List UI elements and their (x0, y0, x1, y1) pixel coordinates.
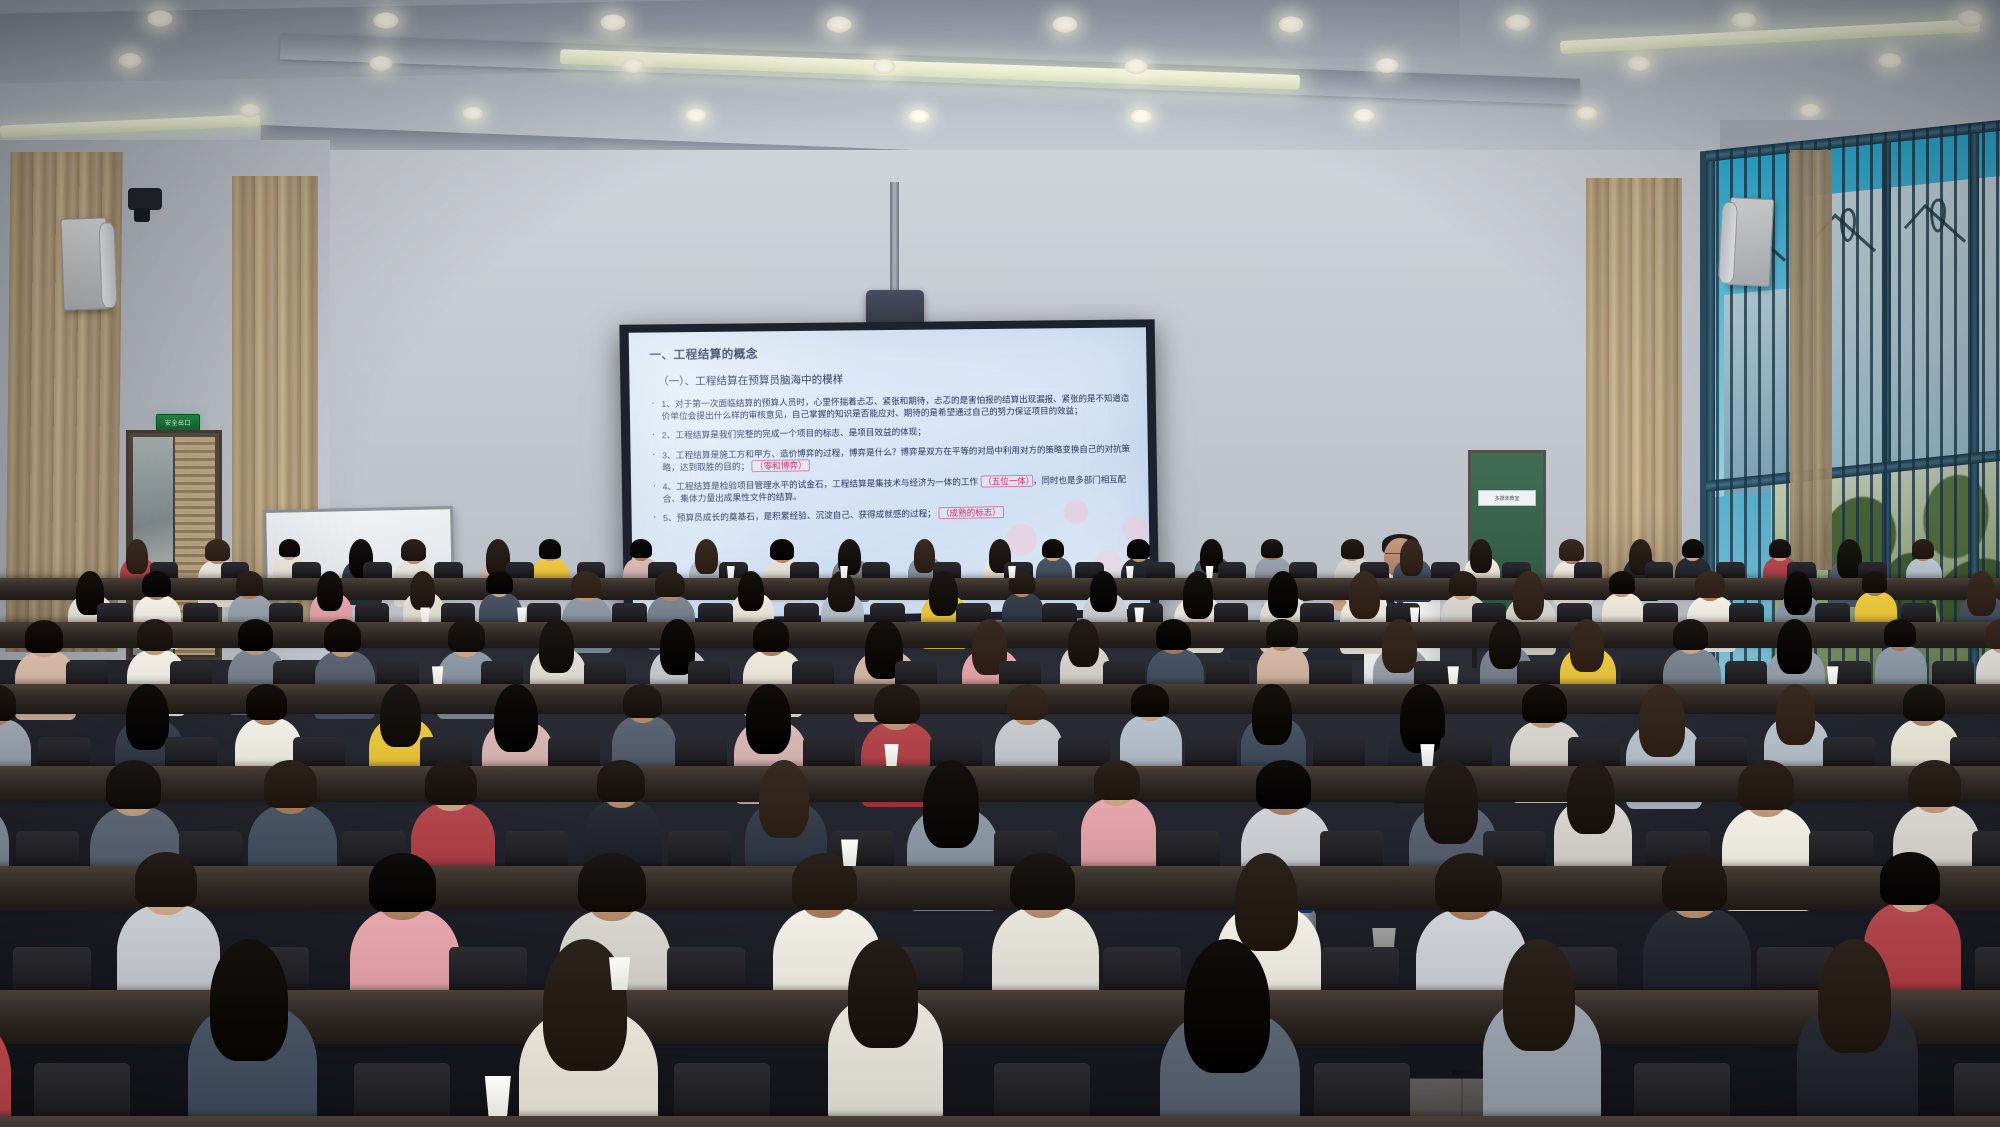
wall-speaker-right (1726, 197, 1775, 287)
audience-hair (1570, 619, 1604, 672)
audience-hair (1784, 571, 1812, 615)
exit-sign-label: 安全出口 (165, 418, 191, 427)
audience-member (530, 936, 648, 1127)
audience-hair (410, 571, 435, 610)
audience-hair (106, 760, 161, 809)
audience-hair (738, 571, 764, 611)
ceiling-downlight (1958, 10, 1983, 26)
audience-hair (425, 760, 476, 805)
slide-bullet-text: 2、工程结算是我们完整的完成一个项目的标志、是项目效益的体现； (662, 427, 926, 441)
audience-hair (1400, 539, 1424, 576)
audience-hair (0, 684, 16, 721)
audience-hair (494, 684, 538, 753)
audience-hair (369, 853, 436, 912)
audience-hair (770, 539, 794, 560)
audience-hair (1042, 539, 1064, 558)
slide-highlight: （成熟的标志） (938, 507, 1004, 520)
desk-row (0, 1116, 2000, 1127)
audience-hair (1559, 539, 1584, 561)
audience-hair (1127, 539, 1150, 559)
audience-member (1063, 618, 1106, 692)
audience-member (0, 936, 1, 1127)
audience-hair (1776, 684, 1816, 746)
audience-member (1000, 850, 1091, 1006)
slide-bullet-list: 1、对于第一次面临结算的预算人员时，心里怀揣着忐忑、紧张和期待，忐忑的是害怕报的… (650, 392, 1137, 525)
ceiling-downlight (1577, 106, 1598, 120)
wall-speaker-left (60, 217, 109, 311)
audience-hair (1090, 571, 1117, 612)
audience-member (1170, 936, 1290, 1127)
audience-hair (539, 619, 573, 673)
audience-hair (1094, 760, 1140, 800)
slide-highlight: （五位一体） (980, 475, 1033, 488)
audience-hair (1010, 853, 1075, 910)
audience-hair (1424, 760, 1478, 843)
audience-hair (539, 539, 561, 559)
slide-bullet: 5、预算员成长的奠基石，是积累经验、沉淀自己、获得成就感的过程； （成熟的标志） (652, 504, 1137, 525)
ceiling-downlight (1731, 13, 1756, 29)
audience-hair (126, 539, 148, 574)
slide-bullet-text: 5、预算员成长的奠基石，是积累经验、沉淀自己、获得成就感的过程； (663, 509, 936, 524)
curtain-right-outer (1790, 150, 1832, 570)
audience-member (837, 936, 935, 1104)
audience-member (1492, 936, 1593, 1109)
slide-bullet-text: 4、工程结算是检验项目管理水平的试金石，工程结算是集技术与经济为一体的工作 (663, 477, 978, 492)
audience-hair (1156, 619, 1191, 650)
audience-member (1806, 936, 1909, 1112)
audience-hair (695, 539, 718, 575)
ceiling-downlight (826, 16, 851, 32)
audience-hair (571, 571, 601, 598)
audience-hair (1522, 684, 1567, 723)
audience-hair (1382, 619, 1416, 673)
ceiling-downlight (1279, 16, 1304, 32)
audience-hair (1903, 684, 1946, 721)
ceiling-downlight (1131, 110, 1152, 124)
audience-hair (324, 619, 361, 652)
ceiling-downlight (621, 58, 644, 73)
audience-hair (205, 539, 230, 561)
ceiling-downlight (1354, 108, 1375, 122)
audience-hair (1908, 760, 1961, 807)
audience-hair (1435, 853, 1502, 912)
audience-hair (1261, 539, 1283, 558)
ceiling-downlight (873, 59, 896, 74)
audience-hair (1912, 539, 1934, 559)
audience-hair (1818, 939, 1891, 1054)
room-sign: 多媒体教室 (1478, 490, 1536, 506)
ceiling-downlight (1505, 15, 1530, 31)
ceiling-downlight (1053, 16, 1078, 32)
audience-member (358, 850, 452, 1012)
audience-hair (759, 760, 809, 838)
audience-hair (1769, 539, 1791, 558)
audience-hair (401, 539, 426, 561)
slide-bullet-text: 3、工程结算是施工方和甲方、造价博弈的过程，博弈是什么？博弈是双方在平等的对局中… (662, 443, 1130, 472)
audience-hair (1266, 619, 1298, 647)
audience-hair (1268, 571, 1298, 618)
audience-hair (1880, 852, 1939, 904)
audience-hair (1862, 571, 1887, 593)
audience-hair (1985, 619, 2000, 649)
audience-hair (135, 852, 197, 907)
audience-hair (1252, 684, 1291, 745)
audience-hair (1662, 853, 1728, 911)
audience-member (198, 936, 308, 1124)
slide-bullet-text: 1、对于第一次面临结算的预算人员时，心里怀揣着忐忑、紧张和期待，忐忑的是害怕报的… (661, 393, 1129, 421)
audience-hair (1349, 571, 1380, 619)
audience-hair (1503, 939, 1575, 1051)
ceiling-downlight (462, 106, 483, 120)
exit-sign: 安全出口 (156, 414, 200, 431)
paper-cup (482, 1076, 513, 1116)
ceiling-downlight (1800, 104, 1821, 118)
audience-area (0, 560, 2000, 1127)
audience-hair (1341, 539, 1364, 559)
audience-hair (597, 760, 645, 802)
audience-hair (210, 939, 288, 1061)
audience-hair (126, 684, 168, 750)
slide-subtitle: （一）、工程结算在预算员脑海中的模样 (658, 368, 1135, 389)
audience-hair (1777, 619, 1812, 674)
ceiling-downlight (685, 108, 706, 122)
audience-hair (1256, 760, 1311, 808)
audience-hair (238, 619, 274, 650)
ceiling-downlight (600, 15, 625, 31)
audience-hair (1738, 760, 1794, 810)
audience-hair (874, 684, 920, 724)
audience-hair (264, 760, 318, 807)
audience-hair (1007, 684, 1048, 720)
ceiling-downlight (370, 56, 393, 71)
audience-hair (236, 571, 264, 596)
lecture-hall-photo: 安全出口 多媒体教室 一、工程结算的概念 （一）、工程结算在预算员脑海中的模样 … (0, 0, 2000, 1127)
audience-member (1086, 758, 1150, 868)
slide-bullet: 1、对于第一次面临结算的预算人员时，心里怀揣着忐忑、紧张和期待，忐忑的是害怕报的… (650, 392, 1135, 423)
audience-hair (1449, 571, 1478, 596)
audience-hair (655, 571, 684, 597)
audience-hair (1884, 619, 1915, 647)
ceiling-downlight (119, 53, 142, 68)
audience-hair (1068, 619, 1099, 667)
audience-hair (142, 571, 171, 596)
audience-hair (1682, 539, 1704, 558)
audience-hair (486, 571, 512, 594)
audience-hair (380, 684, 420, 747)
audience-hair (929, 571, 958, 616)
audience-hair (1400, 684, 1445, 754)
audience-hair (923, 760, 979, 848)
audience-hair (25, 620, 63, 653)
ceiling-downlight (908, 110, 929, 124)
audience-hair (1470, 539, 1492, 573)
audience-hair (1567, 760, 1615, 834)
audience-hair (246, 684, 287, 720)
ceiling-downlight (1124, 59, 1147, 74)
audience-hair (1609, 571, 1635, 594)
projector-mount (890, 182, 899, 292)
audience-hair (1639, 684, 1686, 757)
slide-bullet: 3、工程结算是施工方和甲方、造价博弈的过程，博弈是什么？博弈是双方在平等的对局中… (651, 442, 1136, 474)
audience-hair (448, 619, 485, 652)
ceiling-downlight (1376, 58, 1399, 73)
audience-hair (1673, 619, 1708, 650)
audience-hair (137, 619, 173, 651)
audience-hair (848, 939, 918, 1048)
audience-hair (279, 539, 300, 557)
ceiling-downlight (1879, 53, 1902, 68)
audience-hair (1489, 619, 1521, 669)
audience-member (1559, 758, 1626, 872)
audience-hair (1184, 939, 1270, 1072)
audience-hair (1695, 571, 1725, 597)
slide-highlight: （零和博弈） (752, 459, 810, 472)
audience-hair (753, 619, 790, 651)
audience-hair (578, 853, 646, 913)
audience-hair (746, 684, 791, 754)
audience-hair (1131, 684, 1169, 717)
ceiling-downlight (240, 104, 261, 118)
ceiling-camera (128, 188, 162, 210)
slide-title: 一、工程结算的概念 (649, 341, 1134, 362)
audience-hair (630, 539, 652, 559)
ceiling-downlight (1627, 56, 1650, 71)
curtain-right-inner (1586, 178, 1682, 598)
audience-member (1651, 850, 1743, 1008)
audience-hair (623, 684, 662, 718)
slide-bullet: 4、工程结算是检验项目管理水平的试金石，工程结算是集技术与经济为一体的工作 （五… (651, 473, 1136, 505)
audience-hair (1183, 571, 1213, 619)
audience-hair (1967, 571, 1995, 615)
audience-hair (1513, 571, 1544, 619)
audience-hair (317, 571, 343, 611)
slide-bullet: 2、工程结算是我们完整的完成一个项目的标志、是项目效益的体现； (651, 423, 1136, 442)
ceiling-downlight (148, 10, 173, 26)
